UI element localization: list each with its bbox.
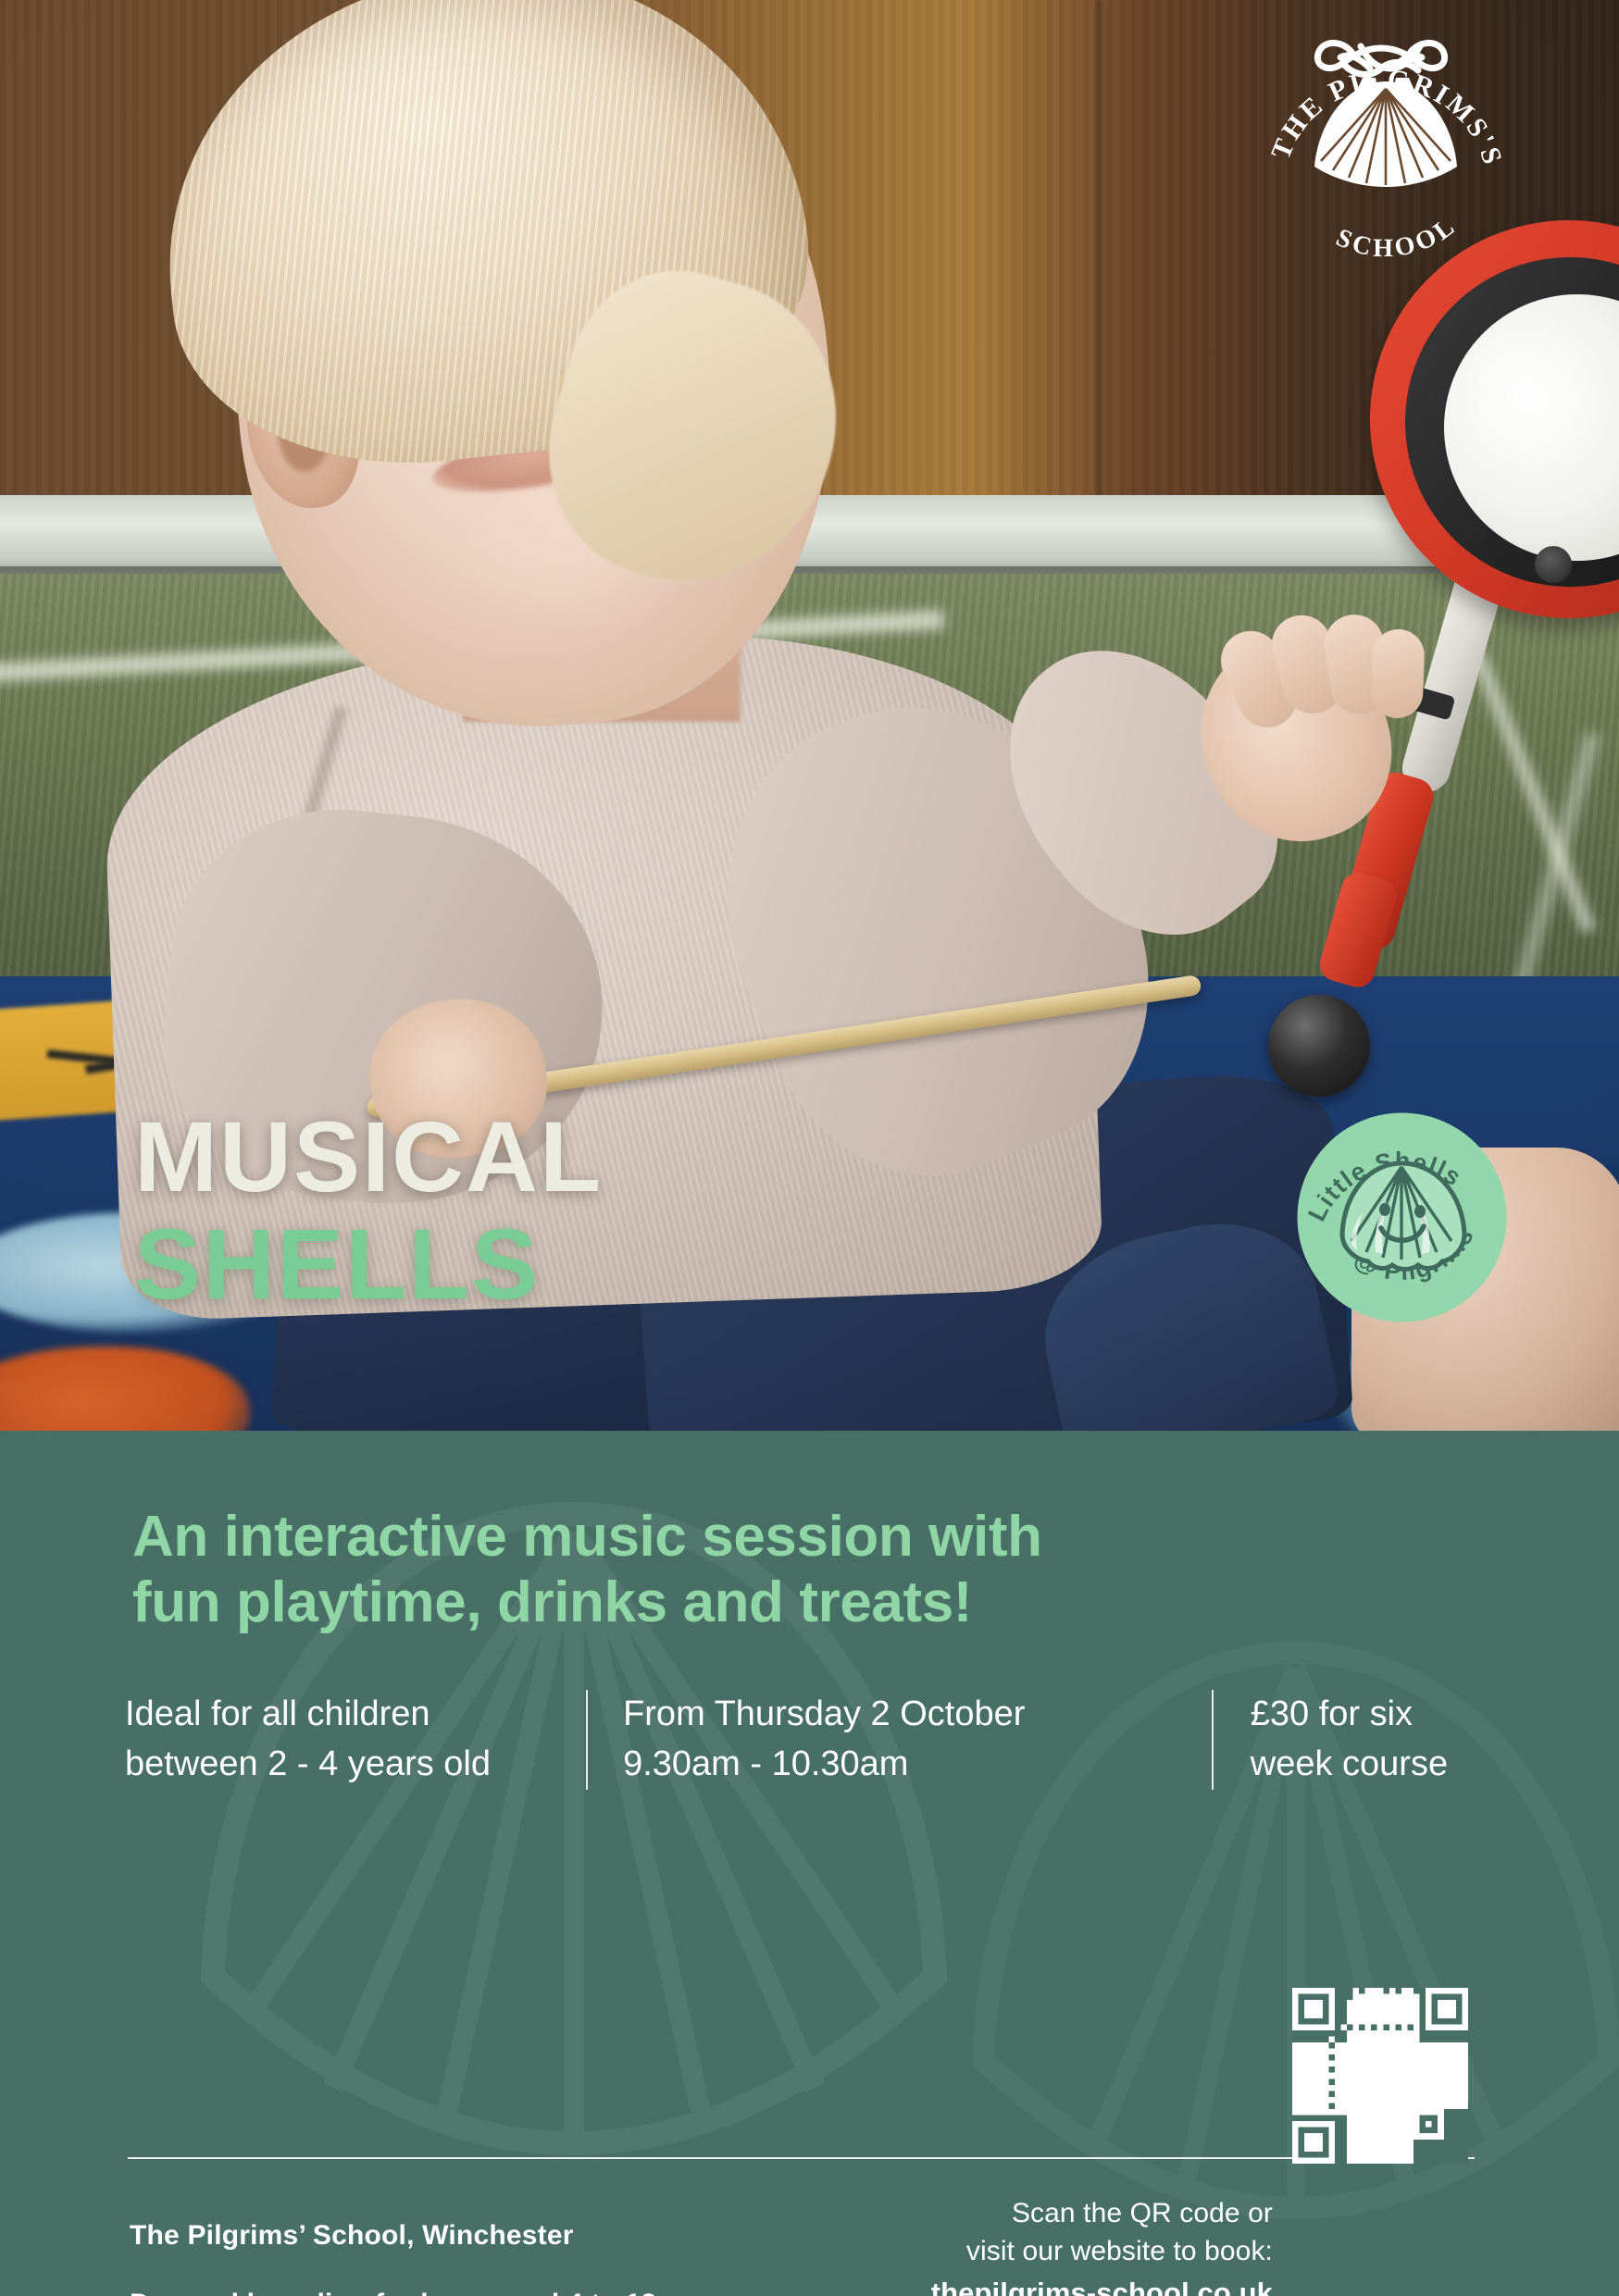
badge-eye-left xyxy=(1379,1203,1390,1216)
badge-eye-right xyxy=(1414,1205,1426,1218)
footer-school-name: The Pilgrims’ School, Winchester xyxy=(130,2222,665,2250)
detail-age-range: Ideal for all children between 2 - 4 yea… xyxy=(118,1690,586,1790)
qr-prompt: Scan the QR code or visit our website to… xyxy=(870,2194,1273,2296)
title-line-shells: SHELLS xyxy=(134,1213,603,1315)
detail-line: Ideal for all children xyxy=(125,1690,586,1740)
qr-prompt-line-2: visit our website to book: xyxy=(870,2232,1273,2270)
little-shells-badge: Little Shells @ Pilgrims' xyxy=(1296,1111,1508,1323)
website-url[interactable]: thepilgrims-school.co.uk xyxy=(870,2277,1273,2296)
qr-prompt-line-1: Scan the QR code or xyxy=(870,2194,1273,2232)
footer-divider xyxy=(128,2157,1475,2159)
poster-root: THE PILGRIMS'S SCHOOL xyxy=(0,0,1619,2296)
celtic-knot-icon xyxy=(1317,43,1444,74)
title-line-musical: MUSICAL xyxy=(134,1106,603,1208)
footer-strapline: Day and boarding for boys aged 4 to 13. xyxy=(130,2290,665,2296)
svg-text:SCHOOL: SCHOOL xyxy=(1332,211,1463,264)
detail-columns: Ideal for all children between 2 - 4 yea… xyxy=(118,1690,1507,1790)
poster-title: MUSICAL SHELLS xyxy=(134,1106,603,1315)
info-panel: An interactive music session with fun pl… xyxy=(0,1431,1619,2296)
detail-date-and-time: From Thursday 2 October 9.30am - 10.30am xyxy=(588,1690,1212,1790)
school-crest-logo: THE PILGRIMS'S SCHOOL xyxy=(1252,11,1520,279)
detail-line: 9.30am - 10.30am xyxy=(623,1740,1212,1790)
drum-mallet-head xyxy=(1268,995,1370,1097)
detail-line: between 2 - 4 years old xyxy=(125,1740,586,1790)
wall-panel-seam xyxy=(1097,0,1102,518)
child-thumb xyxy=(1370,628,1425,719)
panel-headline: An interactive music session with fun pl… xyxy=(132,1505,1262,1635)
headline-line-2: fun playtime, drinks and treats! xyxy=(132,1570,1262,1636)
hand-drum-screw xyxy=(1535,546,1572,583)
detail-line: £30 for six xyxy=(1251,1690,1507,1740)
crest-ring-text-lower: SCHOOL xyxy=(1332,211,1463,264)
headline-line-1: An interactive music session with xyxy=(132,1505,1262,1570)
detail-price: £30 for six week course xyxy=(1214,1690,1507,1790)
detail-line: week course xyxy=(1251,1740,1507,1790)
qr-code[interactable] xyxy=(1292,1988,1468,2164)
footer-school-info: The Pilgrims’ School, Winchester Day and… xyxy=(130,2222,665,2296)
detail-line: From Thursday 2 October xyxy=(623,1690,1212,1740)
